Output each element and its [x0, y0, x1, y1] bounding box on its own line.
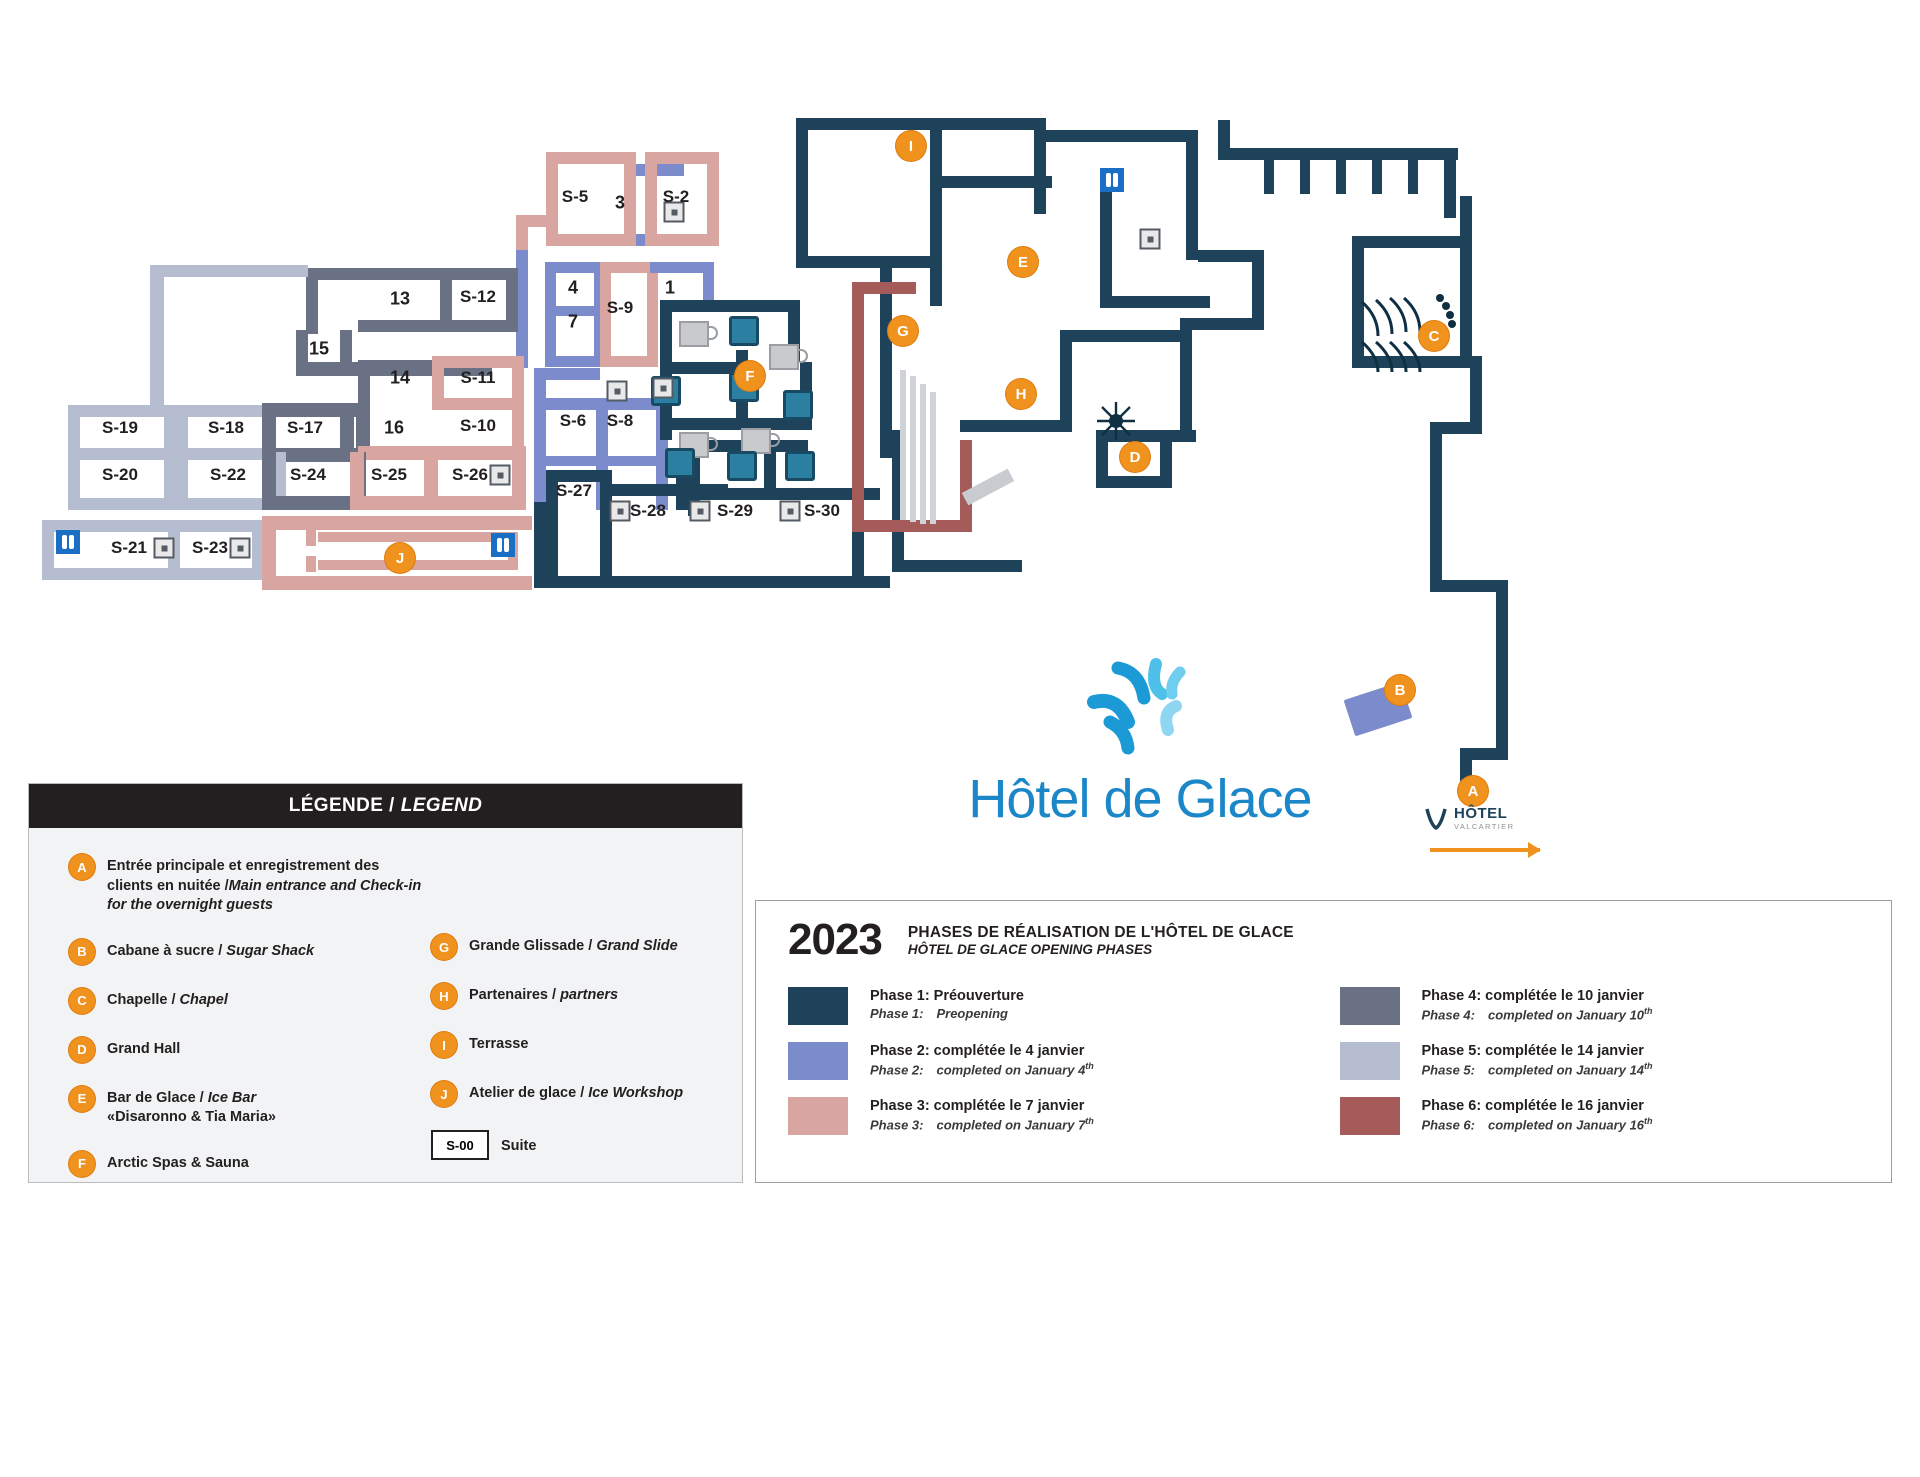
room-label-s-2: S-2 — [663, 187, 689, 207]
legend-item-j: JAtelier de glace / Ice Workshop — [431, 1081, 731, 1107]
poi-marker-c[interactable]: C — [1419, 321, 1449, 351]
room-label-1: 1 — [665, 278, 675, 299]
legend-suite-key: S-00Suite — [431, 1130, 731, 1160]
poi-marker-h[interactable]: H — [1006, 379, 1036, 409]
poi-marker-a[interactable]: A — [1458, 776, 1488, 806]
legend-header-en: LEGEND — [401, 795, 483, 817]
phase-legend-item-2: Phase 4: complétée le 10 janvierPhase 4:… — [1340, 987, 1864, 1025]
legend-text-i: Terrasse — [469, 1032, 528, 1055]
room-label-s-29: S-29 — [717, 501, 753, 521]
room-label-s-17: S-17 — [287, 418, 323, 438]
legend-item-d: DGrand Hall — [69, 1037, 429, 1063]
room-label-s-19: S-19 — [102, 418, 138, 438]
legend-text-f: Arctic Spas & Sauna — [107, 1151, 249, 1174]
legend-text-g: Grande Glissade / Grand Slide — [469, 934, 678, 957]
room-label-s-26: S-26 — [452, 465, 488, 485]
phase-label: Phase 4: complétée le 10 janvierPhase 4:… — [1422, 987, 1653, 1024]
suite-icon — [490, 465, 511, 486]
legend-text-e: Bar de Glace / Ice Bar«Disaronno & Tia M… — [107, 1086, 276, 1128]
suite-icon — [1140, 229, 1161, 250]
phase-heading-en: HÔTEL DE GLACE OPENING PHASES — [908, 942, 1294, 957]
valcartier-mark-icon — [1424, 805, 1448, 831]
cafe-icon — [679, 321, 709, 347]
valcartier-line1: HÔTEL — [1454, 805, 1514, 822]
spa-icon — [783, 390, 813, 420]
legend-item-c: CChapelle / Chapel — [69, 988, 429, 1014]
phase-color-swatch — [788, 987, 848, 1025]
suite-icon — [154, 538, 175, 559]
poi-marker-d[interactable]: D — [1120, 442, 1150, 472]
room-label-s-30: S-30 — [804, 501, 840, 521]
poi-marker-f[interactable]: F — [735, 361, 765, 391]
suite-icon — [653, 378, 674, 399]
phase-label: Phase 5: complétée le 14 janvierPhase 5:… — [1422, 1042, 1653, 1079]
legend-item-b: BCabane à sucre / Sugar Shack — [69, 939, 429, 965]
room-label-s-27: S-27 — [556, 481, 592, 501]
valcartier-logo: HÔTEL VALCARTIER — [1424, 805, 1554, 831]
phase-color-swatch — [788, 1042, 848, 1080]
legend-header-fr: LÉGENDE / — [289, 795, 395, 817]
suite-code-chip: S-00 — [431, 1130, 489, 1160]
legend-badge-h: H — [431, 983, 457, 1009]
compass-rose-icon — [1095, 400, 1137, 442]
phase-label: Phase 6: complétée le 16 janvierPhase 6:… — [1422, 1097, 1653, 1134]
phase-year: 2023 — [788, 915, 882, 965]
room-label-s-24: S-24 — [290, 465, 326, 485]
hotel-de-glace-logo-icon — [940, 650, 1340, 760]
phase-color-swatch — [1340, 1042, 1400, 1080]
brand-block: Hôtel de Glace — [940, 650, 1340, 830]
room-label-13: 13 — [390, 289, 410, 310]
room-label-s-18: S-18 — [208, 418, 244, 438]
ice-hotel-floor-plan: S-53S-213S-124S-9171514S-11S-19S-18S-171… — [0, 0, 1920, 1477]
room-label-s-5: S-5 — [562, 187, 588, 207]
room-label-s-10: S-10 — [460, 416, 496, 436]
phase-color-swatch — [1340, 987, 1400, 1025]
suite-icon — [607, 381, 628, 402]
suite-key-label: Suite — [501, 1134, 536, 1157]
room-label-s-9: S-9 — [607, 298, 633, 318]
room-label-s-12: S-12 — [460, 287, 496, 307]
legend-badge-g: G — [431, 934, 457, 960]
poi-marker-i[interactable]: I — [896, 131, 926, 161]
legend-badge-e: E — [69, 1086, 95, 1112]
legend-item-a: AEntrée principale et enregistrement des… — [69, 854, 429, 916]
room-label-s-28: S-28 — [630, 501, 666, 521]
room-label-s-22: S-22 — [210, 465, 246, 485]
legend-column-right: GGrande Glissade / Grand SlideHPartenair… — [431, 934, 731, 1160]
room-label-16: 16 — [384, 418, 404, 439]
suite-icon — [230, 538, 251, 559]
legend-text-d: Grand Hall — [107, 1037, 180, 1060]
room-label-s-6: S-6 — [560, 411, 586, 431]
room-label-s-23: S-23 — [192, 538, 228, 558]
legend-header: LÉGENDE / LEGEND — [29, 784, 742, 828]
legend-item-h: HPartenaires / partners — [431, 983, 731, 1009]
phase-label: Phase 1: PréouverturePhase 1: Preopening — [870, 987, 1024, 1023]
legend-panel: LÉGENDE / LEGEND AEntrée principale et e… — [28, 783, 743, 1183]
poi-marker-g[interactable]: G — [888, 316, 918, 346]
legend-badge-j: J — [431, 1081, 457, 1107]
valcartier-line2: VALCARTIER — [1454, 822, 1514, 831]
phase-legend-grid: Phase 1: PréouverturePhase 1: Preopening… — [756, 965, 1891, 1135]
phase-legend-item-4: Phase 5: complétée le 14 janvierPhase 5:… — [1340, 1042, 1864, 1080]
chapel-pews-icon — [1356, 292, 1466, 378]
phase-color-swatch — [788, 1097, 848, 1135]
suite-icon — [690, 501, 711, 522]
brand-name: Hôtel de Glace — [940, 768, 1340, 830]
legend-item-e: EBar de Glace / Ice Bar«Disaronno & Tia … — [69, 1086, 429, 1128]
room-label-14: 14 — [390, 368, 410, 389]
phase-label: Phase 3: complétée le 7 janvierPhase 3: … — [870, 1097, 1094, 1134]
room-label-7: 7 — [568, 312, 578, 333]
phase-legend-item-6: Phase 6: complétée le 16 janvierPhase 6:… — [1340, 1097, 1864, 1135]
spa-icon — [729, 316, 759, 346]
legend-text-b: Cabane à sucre / Sugar Shack — [107, 939, 314, 962]
phase-heading-fr: PHASES DE RÉALISATION DE L'HÔTEL DE GLAC… — [908, 924, 1294, 942]
legend-text-j: Atelier de glace / Ice Workshop — [469, 1081, 683, 1104]
legend-text-c: Chapelle / Chapel — [107, 988, 228, 1011]
restroom-icon — [56, 530, 80, 554]
legend-badge-i: I — [431, 1032, 457, 1058]
suite-icon — [780, 501, 801, 522]
phase-legend-item-1: Phase 1: PréouverturePhase 1: Preopening — [788, 987, 1312, 1025]
legend-item-i: ITerrasse — [431, 1032, 731, 1058]
legend-badge-f: F — [69, 1151, 95, 1177]
room-label-s-20: S-20 — [102, 465, 138, 485]
legend-text-h: Partenaires / partners — [469, 983, 618, 1006]
legend-column-left: AEntrée principale et enregistrement des… — [69, 854, 429, 1200]
phase-legend-item-3: Phase 2: complétée le 4 janvierPhase 2: … — [788, 1042, 1312, 1080]
poi-marker-j[interactable]: J — [385, 543, 415, 573]
room-label-s-11: S-11 — [461, 368, 496, 388]
poi-marker-b[interactable]: B — [1385, 675, 1415, 705]
phase-color-swatch — [1340, 1097, 1400, 1135]
direction-arrow-icon — [1430, 848, 1540, 852]
legend-badge-a: A — [69, 854, 95, 880]
suite-icon — [610, 501, 631, 522]
spa-icon — [665, 448, 695, 478]
restroom-icon — [1100, 168, 1124, 192]
phase-legend-item-5: Phase 3: complétée le 7 janvierPhase 3: … — [788, 1097, 1312, 1135]
room-label-4: 4 — [568, 278, 578, 299]
legend-text-a: Entrée principale et enregistrement des … — [107, 854, 429, 916]
cafe-icon — [769, 344, 799, 370]
phase-label: Phase 2: complétée le 4 janvierPhase 2: … — [870, 1042, 1094, 1079]
legend-item-f: FArctic Spas & Sauna — [69, 1151, 429, 1177]
legend-badge-c: C — [69, 988, 95, 1014]
room-label-s-8: S-8 — [607, 411, 633, 431]
restroom-icon — [491, 533, 515, 557]
spa-icon — [785, 451, 815, 481]
room-label-s-25: S-25 — [371, 465, 407, 485]
room-label-15: 15 — [309, 339, 329, 360]
legend-item-g: GGrande Glissade / Grand Slide — [431, 934, 731, 960]
room-label-s-21: S-21 — [111, 538, 147, 558]
room-label-3: 3 — [615, 193, 625, 214]
phases-panel: 2023 PHASES DE RÉALISATION DE L'HÔTEL DE… — [755, 900, 1892, 1183]
legend-badge-d: D — [69, 1037, 95, 1063]
spa-icon — [727, 451, 757, 481]
legend-badge-b: B — [69, 939, 95, 965]
poi-marker-e[interactable]: E — [1008, 247, 1038, 277]
